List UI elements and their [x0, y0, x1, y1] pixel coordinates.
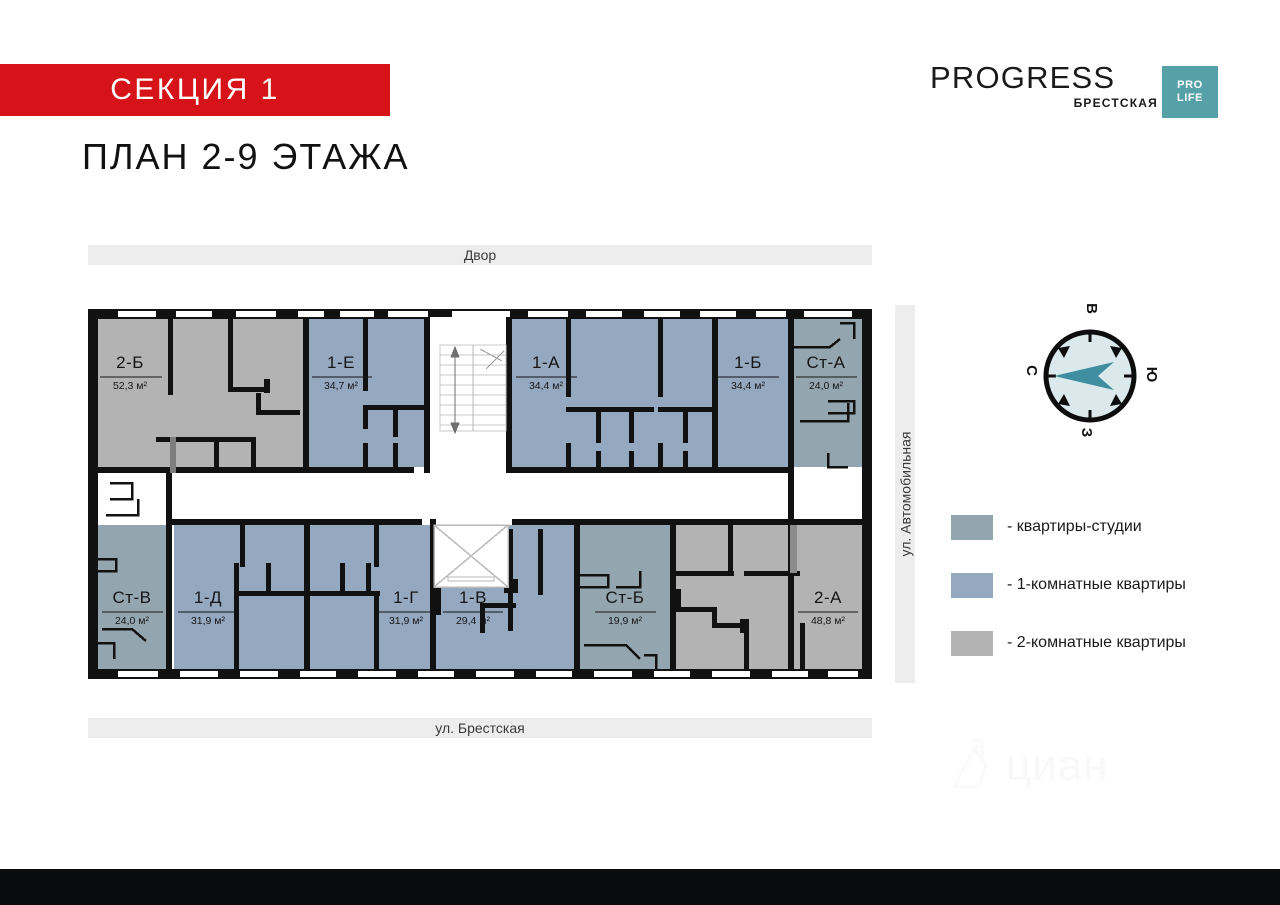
legend-label-one-room: - 1-комнатные квартиры [1007, 576, 1186, 594]
street-label-brestskaya: ул. Брестская [435, 720, 524, 736]
compass-rose: В С Ю З [1020, 304, 1160, 448]
legend-item-studio: - квартиры-студии [951, 509, 1251, 545]
unit-fill-1-G [310, 525, 430, 671]
unit-fill-2-A [676, 525, 862, 671]
unit-fill-1-E [309, 317, 430, 467]
brand-subtitle: БРЕСТСКАЯ [930, 96, 1158, 110]
courtyard-label: Двор [464, 247, 496, 263]
compass-label-north: С [1023, 365, 1040, 376]
unit-fill-St-V [98, 537, 166, 671]
street-label-avtomobilnaya: ул. Автомобильная [897, 432, 913, 557]
page-title: ПЛАН 2-9 ЭТАЖА [82, 136, 409, 178]
courtyard-band: Двор [88, 245, 872, 265]
legend-swatch-studio [951, 515, 993, 540]
cian-watermark-text: циан [1006, 741, 1109, 791]
unit-fill-1-A [512, 317, 712, 467]
compass-label-east: В [1083, 303, 1100, 314]
legend-label-studio: - квартиры-студии [1007, 518, 1142, 536]
prolife-badge: PRO LIFE [1162, 66, 1218, 118]
compass-label-west: З [1078, 428, 1095, 437]
street-band-avtomobilnaya: ул. Автомобильная [895, 305, 915, 683]
brand-logo: PROGRESS БРЕСТСКАЯ PRO LIFE [930, 62, 1220, 118]
legend-swatch-one-room [951, 573, 993, 598]
section-badge: СЕКЦИЯ 1 [0, 64, 390, 116]
legend-swatch-two-room [951, 631, 993, 656]
unit-fill-1-B [718, 317, 788, 467]
cian-bird-icon [948, 735, 1004, 793]
legend-label-two-room: - 2-комнатные квартиры [1007, 634, 1186, 652]
prolife-badge-line2: LIFE [1177, 92, 1203, 105]
legend-item-two-room: - 2-комнатные квартиры [951, 625, 1251, 661]
unit-fill-St-B [580, 525, 670, 671]
legend: - квартиры-студии - 1-комнатные квартиры… [951, 509, 1251, 683]
elevator [434, 525, 508, 587]
footer-bar [0, 869, 1280, 905]
cian-watermark: циан [948, 735, 1168, 795]
floor-plan[interactable]: 2-Б 52,3 м² 1-Е 34,7 м² 1-А 34,4 м² 1-Б … [88, 303, 872, 685]
prolife-badge-line1: PRO [1177, 79, 1203, 92]
section-badge-label: СЕКЦИЯ 1 [110, 73, 280, 107]
compass-label-south: Ю [1143, 367, 1160, 382]
legend-item-one-room: - 1-комнатные квартиры [951, 567, 1251, 603]
street-band-brestskaya: ул. Брестская [88, 718, 872, 738]
staircase [440, 345, 506, 431]
unit-fill-2-B [98, 317, 303, 467]
brand-logo-wordmark: PROGRESS БРЕСТСКАЯ [930, 62, 1158, 110]
brand-name: PROGRESS [930, 62, 1158, 94]
